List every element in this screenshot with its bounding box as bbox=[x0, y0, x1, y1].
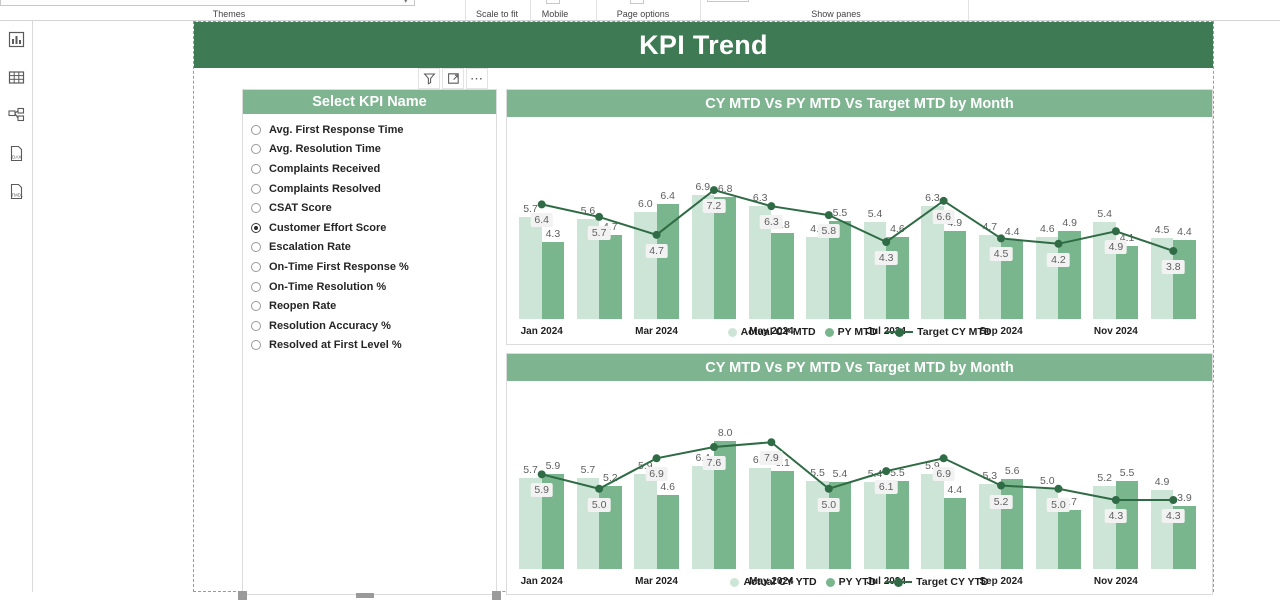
slicer-item[interactable]: CSAT Score bbox=[243, 198, 496, 218]
target-value-label: 5.8 bbox=[817, 224, 840, 238]
chart-mtd-title: CY MTD Vs PY MTD Vs Target MTD by Month bbox=[705, 96, 1014, 112]
slicer-resize-handle-bottom-left[interactable] bbox=[238, 591, 247, 600]
slicer-item[interactable]: Reopen Rate bbox=[243, 296, 496, 316]
target-value-label: 4.7 bbox=[645, 244, 668, 258]
target-value-label: 6.3 bbox=[760, 215, 783, 229]
legend-item[interactable]: PY MTD bbox=[825, 326, 877, 338]
kpi-trend-banner: KPI Trend bbox=[194, 22, 1213, 68]
chart-mtd[interactable]: CY MTD Vs PY MTD Vs Target MTD by Month … bbox=[506, 89, 1213, 345]
target-value-label: 4.3 bbox=[1162, 509, 1185, 523]
ribbon-group-themes: Themes bbox=[199, 9, 259, 19]
target-value-label: 7.6 bbox=[703, 456, 726, 470]
report-view-icon[interactable] bbox=[4, 27, 29, 52]
chart-ytd-title: CY MTD Vs PY MTD Vs Target MTD by Month bbox=[705, 360, 1014, 376]
radio-button-icon[interactable] bbox=[251, 125, 261, 135]
slicer-item[interactable]: Resolved at First Level % bbox=[243, 336, 496, 356]
legend-label: Actual CY YTD bbox=[743, 576, 816, 588]
ribbon-divider bbox=[465, 0, 466, 20]
themes-gallery[interactable] bbox=[0, 0, 415, 6]
ribbon-group-scale-to-fit: Scale to fit bbox=[467, 9, 527, 19]
themes-chevron-icon[interactable]: ▾ bbox=[404, 0, 408, 5]
target-line-series bbox=[507, 381, 1212, 594]
legend-swatch-icon bbox=[728, 328, 737, 337]
view-switcher-bar: DAX TMDL bbox=[0, 21, 33, 592]
target-value-label: 4.2 bbox=[1047, 253, 1070, 267]
visual-header-toolbar: ⋯ bbox=[418, 68, 488, 89]
slicer-item[interactable]: Complaints Received bbox=[243, 159, 496, 179]
page-title: KPI Trend bbox=[639, 30, 768, 61]
chart-ytd-legend: Actual CY YTDPY YTDTarget CY YTD bbox=[507, 576, 1212, 588]
chart-ytd-header: CY MTD Vs PY MTD Vs Target MTD by Month bbox=[507, 354, 1212, 381]
target-value-label: 5.2 bbox=[990, 495, 1013, 509]
legend-label: Target CY YTD bbox=[916, 576, 988, 588]
focus-mode-icon[interactable] bbox=[442, 68, 464, 89]
slicer-resize-handle-bottom-right[interactable] bbox=[492, 591, 501, 600]
target-value-label: 5.9 bbox=[530, 483, 553, 497]
slicer-item[interactable]: Avg. First Response Time bbox=[243, 120, 496, 140]
ribbon-group-show-panes: Show panes bbox=[796, 9, 876, 19]
model-view-icon[interactable] bbox=[4, 103, 29, 128]
ribbon-divider bbox=[968, 0, 969, 20]
slicer-title: Select KPI Name bbox=[312, 94, 426, 110]
target-value-label: 6.9 bbox=[932, 467, 955, 481]
legend-label: Actual CY MTD bbox=[741, 326, 816, 338]
target-value-label: 7.9 bbox=[760, 451, 783, 465]
radio-button-icon[interactable] bbox=[251, 164, 261, 174]
slicer-item-label: On-Time First Response % bbox=[269, 261, 409, 273]
radio-button-icon[interactable] bbox=[251, 340, 261, 350]
target-line-series bbox=[507, 117, 1212, 344]
slicer-option-list: Avg. First Response TimeAvg. Resolution … bbox=[243, 114, 496, 355]
radio-button-icon[interactable] bbox=[251, 282, 261, 292]
page-options-button[interactable] bbox=[630, 0, 644, 4]
radio-button-icon[interactable] bbox=[251, 223, 261, 233]
slicer-item-label: Complaints Resolved bbox=[269, 183, 381, 195]
slicer-item[interactable]: Escalation Rate bbox=[243, 238, 496, 258]
legend-item[interactable]: Actual CY MTD bbox=[728, 326, 816, 338]
slicer-item-label: Avg. First Response Time bbox=[269, 124, 403, 136]
radio-button-icon[interactable] bbox=[251, 301, 261, 311]
target-value-label: 6.1 bbox=[875, 480, 898, 494]
chart-mtd-header: CY MTD Vs PY MTD Vs Target MTD by Month bbox=[507, 90, 1212, 117]
slicer-item-label: CSAT Score bbox=[269, 202, 332, 214]
radio-button-icon[interactable] bbox=[251, 184, 261, 194]
slicer-item-label: On-Time Resolution % bbox=[269, 281, 386, 293]
chart-mtd-legend: Actual CY MTDPY MTDTarget CY MTD bbox=[507, 326, 1212, 338]
target-value-label: 3.8 bbox=[1162, 260, 1185, 274]
target-value-label: 4.5 bbox=[990, 247, 1013, 261]
slicer-item-label: Resolution Accuracy % bbox=[269, 320, 391, 332]
chart-ytd[interactable]: CY MTD Vs PY MTD Vs Target MTD by Month … bbox=[506, 353, 1213, 595]
radio-button-icon[interactable] bbox=[251, 144, 261, 154]
legend-label: Target CY MTD bbox=[917, 326, 991, 338]
target-value-label: 5.0 bbox=[588, 498, 611, 512]
slicer-item-label: Complaints Received bbox=[269, 163, 380, 175]
chart-ytd-plot: 5.75.75.96.46.35.55.45.95.35.05.24.95.95… bbox=[507, 381, 1212, 594]
target-value-label: 6.6 bbox=[932, 210, 955, 224]
legend-label: PY MTD bbox=[838, 326, 877, 338]
ribbon-group-mobile: Mobile bbox=[525, 9, 585, 19]
target-value-label: 7.2 bbox=[703, 199, 726, 213]
slicer-item[interactable]: On-Time Resolution % bbox=[243, 277, 496, 297]
more-options-icon[interactable]: ⋯ bbox=[466, 68, 488, 89]
slicer-item[interactable]: Avg. Resolution Time bbox=[243, 140, 496, 160]
slicer-item[interactable]: Complaints Resolved bbox=[243, 179, 496, 199]
legend-line-icon bbox=[885, 578, 912, 587]
legend-swatch-icon bbox=[825, 328, 834, 337]
legend-item[interactable]: PY YTD bbox=[826, 576, 877, 588]
slicer-item-label: Reopen Rate bbox=[269, 300, 336, 312]
slicer-item-label: Customer Effort Score bbox=[269, 222, 386, 234]
ribbon-group-page-options: Page options bbox=[603, 9, 683, 19]
scale-to-fit-chevron-icon[interactable]: ▾ bbox=[495, 0, 499, 2]
tmdl-view-icon[interactable]: TMDL bbox=[4, 179, 29, 204]
target-value-label: 4.9 bbox=[1105, 240, 1128, 254]
ribbon-divider bbox=[700, 0, 701, 20]
show-panes-chevron-icon[interactable]: ▾ bbox=[918, 0, 922, 2]
page-options-chevron-icon[interactable]: ▾ bbox=[664, 0, 668, 2]
ribbon-strip: ▾ ▾ ▾ ▾ ▾ Themes Scale to fit Mobile Pag… bbox=[0, 0, 1280, 21]
report-canvas: KPI Trend ⋯ Select KPI Name Avg. First R… bbox=[34, 21, 1280, 592]
target-value-label: 4.3 bbox=[1105, 509, 1128, 523]
svg-text:DAX: DAX bbox=[12, 155, 21, 160]
slicer-item[interactable]: Resolution Accuracy % bbox=[243, 316, 496, 336]
slicer-item-label: Avg. Resolution Time bbox=[269, 143, 381, 155]
table-view-icon[interactable] bbox=[4, 65, 29, 90]
slicer-resize-handle-bottom-center[interactable] bbox=[356, 593, 374, 598]
mobile-chevron-icon[interactable]: ▾ bbox=[570, 0, 574, 2]
ribbon-divider bbox=[596, 0, 597, 20]
legend-label: PY YTD bbox=[839, 576, 877, 588]
radio-button-icon[interactable] bbox=[251, 203, 261, 213]
legend-item[interactable]: Target CY YTD bbox=[885, 576, 988, 588]
dax-query-view-icon[interactable]: DAX bbox=[4, 141, 29, 166]
legend-line-icon bbox=[886, 328, 913, 337]
slicer-item[interactable]: Customer Effort Score bbox=[243, 218, 496, 238]
target-value-label: 5.7 bbox=[588, 226, 611, 240]
slicer-header: Select KPI Name bbox=[243, 90, 496, 114]
target-value-label: 5.0 bbox=[817, 498, 840, 512]
legend-swatch-icon bbox=[730, 578, 739, 587]
target-value-label: 4.3 bbox=[875, 251, 898, 265]
mobile-layout-button[interactable] bbox=[546, 0, 560, 4]
radio-button-icon[interactable] bbox=[251, 262, 261, 272]
legend-swatch-icon bbox=[826, 578, 835, 587]
filter-icon[interactable] bbox=[418, 68, 440, 89]
legend-item[interactable]: Actual CY YTD bbox=[730, 576, 816, 588]
svg-text:TMDL: TMDL bbox=[11, 193, 24, 198]
chart-mtd-plot: 5.75.66.06.96.34.65.46.34.74.65.44.54.34… bbox=[507, 117, 1212, 344]
slicer-item[interactable]: On-Time First Response % bbox=[243, 257, 496, 277]
slicer-item-label: Resolved at First Level % bbox=[269, 339, 402, 351]
target-value-label: 5.0 bbox=[1047, 498, 1070, 512]
target-value-label: 6.9 bbox=[645, 467, 668, 481]
show-panes-button[interactable] bbox=[707, 0, 749, 2]
slicer-item-label: Escalation Rate bbox=[269, 241, 351, 253]
legend-item[interactable]: Target CY MTD bbox=[886, 326, 991, 338]
radio-button-icon[interactable] bbox=[251, 242, 261, 252]
target-value-label: 6.4 bbox=[530, 213, 553, 227]
radio-button-icon[interactable] bbox=[251, 321, 261, 331]
kpi-name-slicer[interactable]: Select KPI Name Avg. First Response Time… bbox=[242, 89, 497, 595]
